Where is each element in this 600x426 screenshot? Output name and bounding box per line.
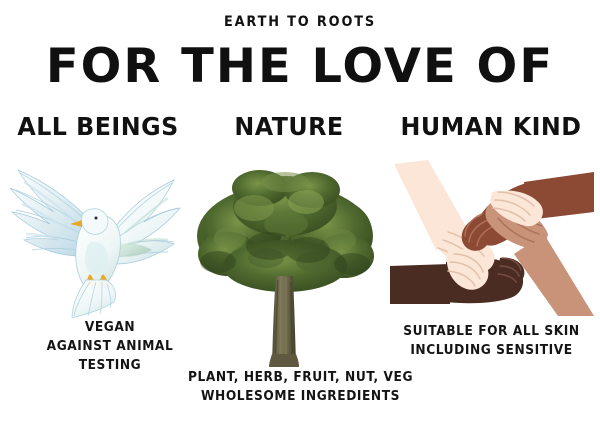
page-title: FOR THE LOVE OF [0,42,600,92]
brand-name: EARTH TO ROOTS [24,14,576,30]
interlocked-arms-icon [388,158,598,318]
subhead-nature: NATURE [201,112,378,142]
caption-human-kind: SUITABLE FOR ALL SKIN INCLUDING SENSITIV… [390,322,594,360]
caption-all-beings: VEGAN AGAINST ANIMAL TESTING [16,318,204,375]
dove-icon [2,158,187,323]
dove-tail [72,280,116,318]
subhead-human-kind: HUMAN KIND [387,112,594,142]
tree-icon [190,158,380,373]
caption-nature: PLANT, HERB, FRUIT, NUT, VEG WHOLESOME I… [171,368,430,406]
dove-right-wing [113,180,180,264]
subhead-all-beings: ALL BEINGS [5,112,191,142]
dove-eye [95,217,98,220]
subhead-row: ALL BEINGS NATURE HUMAN KIND [0,112,600,144]
